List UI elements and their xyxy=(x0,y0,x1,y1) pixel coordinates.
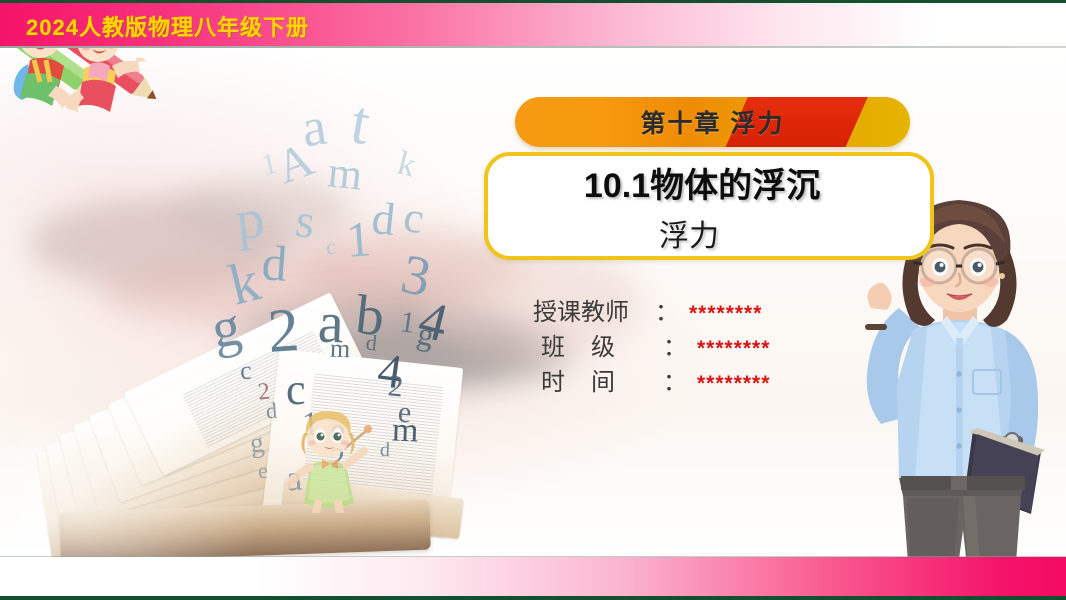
lesson-title-line2: 浮力 xyxy=(659,211,719,255)
lesson-info-row: 班级：******** xyxy=(533,327,770,353)
decor-letter: m xyxy=(330,336,351,363)
lesson-title-card: 10.1物体的浮沉 浮力 xyxy=(484,152,934,260)
decor-letter: d xyxy=(365,331,378,354)
lesson-info-colon: ： xyxy=(655,292,679,327)
lesson-info-value: ******** xyxy=(689,302,762,326)
slide-root: at1Amkps1dcckd3g2ab1g4md4c2c2dem1e2dage xyxy=(0,0,1066,600)
decor-letter: t xyxy=(347,91,375,155)
lesson-title-line1: 10.1物体的浮沉 xyxy=(584,158,820,207)
decor-letter: k xyxy=(394,146,419,183)
lesson-info-label: 班级 xyxy=(533,327,681,362)
decor-letter: m xyxy=(391,414,419,449)
decor-letter: 2 xyxy=(266,299,301,363)
lesson-info-label: 时间 xyxy=(533,362,681,397)
lesson-info-value: ******** xyxy=(697,372,770,396)
decor-letter: s xyxy=(293,197,318,247)
course-banner-title: 2024人教版物理八年级下册 xyxy=(26,10,309,42)
lesson-info-label: 授课教师 xyxy=(533,292,673,327)
decor-letter: 1 xyxy=(344,213,372,265)
decor-letter: d xyxy=(370,195,398,243)
decor-letter: c xyxy=(239,358,252,385)
bottom-border-line xyxy=(0,596,1066,600)
lesson-info-block: 授课教师：********班级：********时间：******** xyxy=(533,292,770,397)
cartoon-fairy-icon xyxy=(282,403,378,513)
decor-letter: 1 xyxy=(398,307,417,339)
lesson-info-value: ******** xyxy=(697,337,770,361)
lesson-info-row: 时间：******** xyxy=(533,362,770,388)
decor-letter: c xyxy=(400,195,427,242)
decor-letter: d xyxy=(260,237,288,289)
lesson-info-colon: ： xyxy=(663,362,687,397)
decor-letter: d xyxy=(380,440,391,460)
decor-letter: e xyxy=(257,460,269,483)
chapter-label: 第十章 浮力 xyxy=(515,97,910,147)
chapter-banner: 第十章 浮力 xyxy=(515,97,910,147)
lesson-info-colon: ： xyxy=(663,327,687,362)
decor-letter: p xyxy=(233,191,267,250)
top-banner-divider xyxy=(0,46,1066,48)
lesson-info-row: 授课教师：******** xyxy=(533,292,770,318)
bottom-banner-bar xyxy=(0,557,1066,597)
decor-letter: m xyxy=(326,150,365,197)
decor-letter: d xyxy=(265,400,278,423)
decor-letter: g xyxy=(248,429,266,459)
decor-letter: c xyxy=(325,236,337,259)
